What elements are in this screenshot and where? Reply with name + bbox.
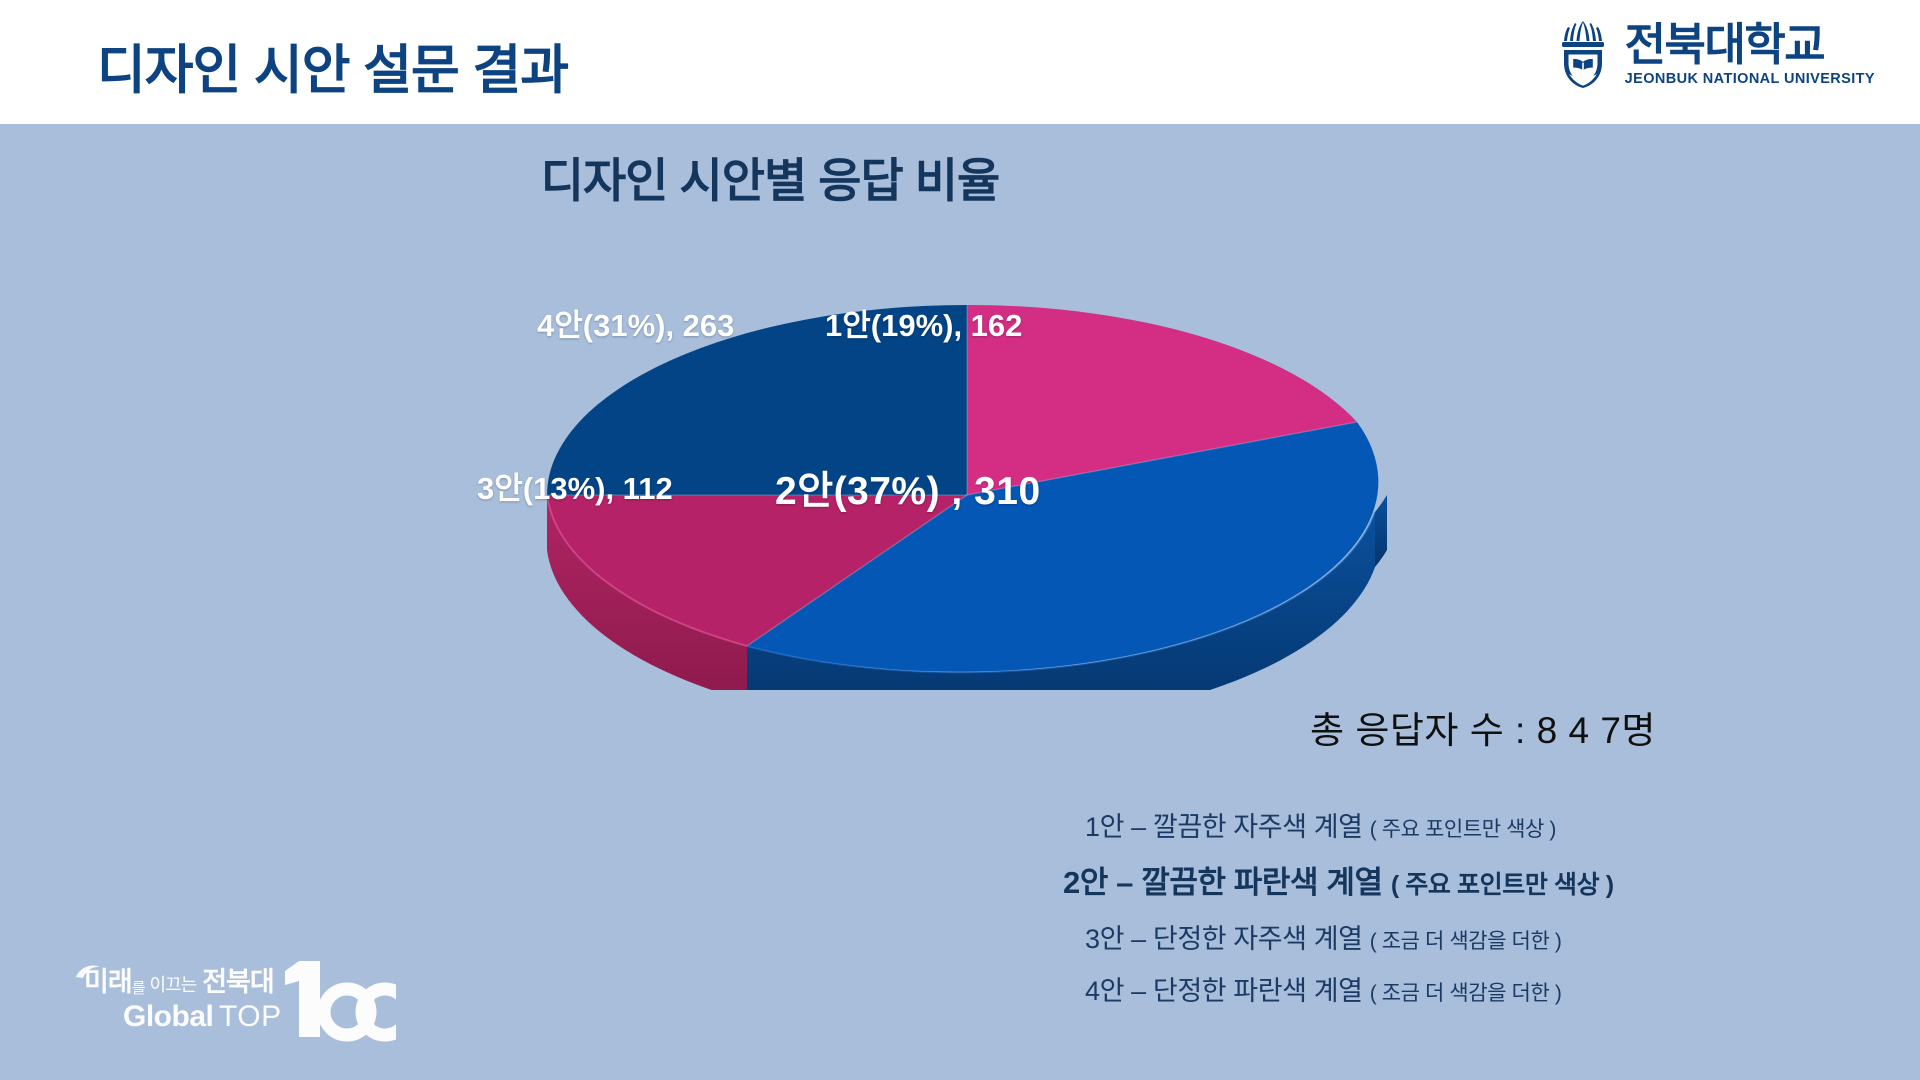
- legend-item-4: 4안 – 단정한 파란색 계열 ( 조금 더 색감을 더한 ): [1085, 969, 1865, 1008]
- legend-item-3-main: 3안 – 단정한 자주색 계열: [1085, 924, 1370, 954]
- legend-item-1-note: ( 주요 포인트만 색상 ): [1370, 818, 1556, 841]
- page-title: 디자인 시안 설문 결과: [97, 28, 568, 104]
- legend-list: 1안 – 깔끔한 자주색 계열 ( 주요 포인트만 색상 ) 2안 – 깔끔한 …: [1085, 805, 1865, 1021]
- pie-slice-label-1: 1안(19%), 162: [825, 300, 1022, 345]
- global-top-100-logo: 미래를이끄는전북대 Global TOP: [66, 955, 396, 1055]
- svg-text:미래를이끄는전북대: 미래를이끄는전북대: [84, 967, 274, 997]
- legend-item-2-note: ( 주요 포인트만 색상 ): [1391, 871, 1614, 899]
- pie-chart: 1안(19%), 162 2안(37%) , 310 3안(13%), 112 …: [515, 270, 1415, 690]
- brand-number-zero-b: [362, 989, 396, 1035]
- legend-item-1: 1안 – 깔끔한 자주색 계열 ( 주요 포인트만 색상 ): [1085, 805, 1865, 844]
- pie-slice-label-4: 4안(31%), 263: [537, 300, 734, 345]
- brand-number-one: [285, 961, 320, 1037]
- page-header: 디자인 시안 설문 결과 전북대학교 JEONBUK NATIONAL UNIV…: [0, 0, 1920, 124]
- university-crest-icon: [1555, 19, 1611, 89]
- chart-title: 디자인 시안별 응답 비율: [0, 142, 1540, 211]
- legend-item-4-main: 4안 – 단정한 파란색 계열: [1085, 976, 1370, 1006]
- university-name-ko: 전북대학교: [1625, 22, 1875, 67]
- legend-item-4-note: ( 조금 더 색감을 더한 ): [1370, 982, 1562, 1005]
- brand-tagline-bold-1: 미래: [84, 967, 132, 997]
- university-name-block: 전북대학교 JEONBUK NATIONAL UNIVERSITY: [1625, 22, 1875, 87]
- pie-slice-label-3: 3안(13%), 112: [477, 463, 673, 508]
- total-respondents-label: 총 응답자 수 : 8 4 7명: [1310, 700, 1656, 754]
- legend-item-2-main: 2안 – 깔끔한 파란색 계열: [1063, 865, 1391, 900]
- brand-global-text: Global: [123, 1000, 213, 1033]
- university-name-en: JEONBUK NATIONAL UNIVERSITY: [1625, 72, 1875, 87]
- university-logo: 전북대학교 JEONBUK NATIONAL UNIVERSITY: [1555, 19, 1875, 89]
- legend-item-2: 2안 – 깔끔한 파란색 계열 ( 주요 포인트만 색상 ): [1063, 857, 1865, 902]
- legend-item-3-note: ( 조금 더 색감을 더한 ): [1370, 930, 1562, 953]
- brand-top-text: TOP: [219, 1000, 282, 1033]
- legend-item-1-main: 1안 – 깔끔한 자주색 계열: [1085, 812, 1370, 842]
- legend-item-3: 3안 – 단정한 자주색 계열 ( 조금 더 색감을 더한 ): [1085, 917, 1865, 956]
- pie-slice-label-2: 2안(37%) , 310: [775, 460, 1041, 516]
